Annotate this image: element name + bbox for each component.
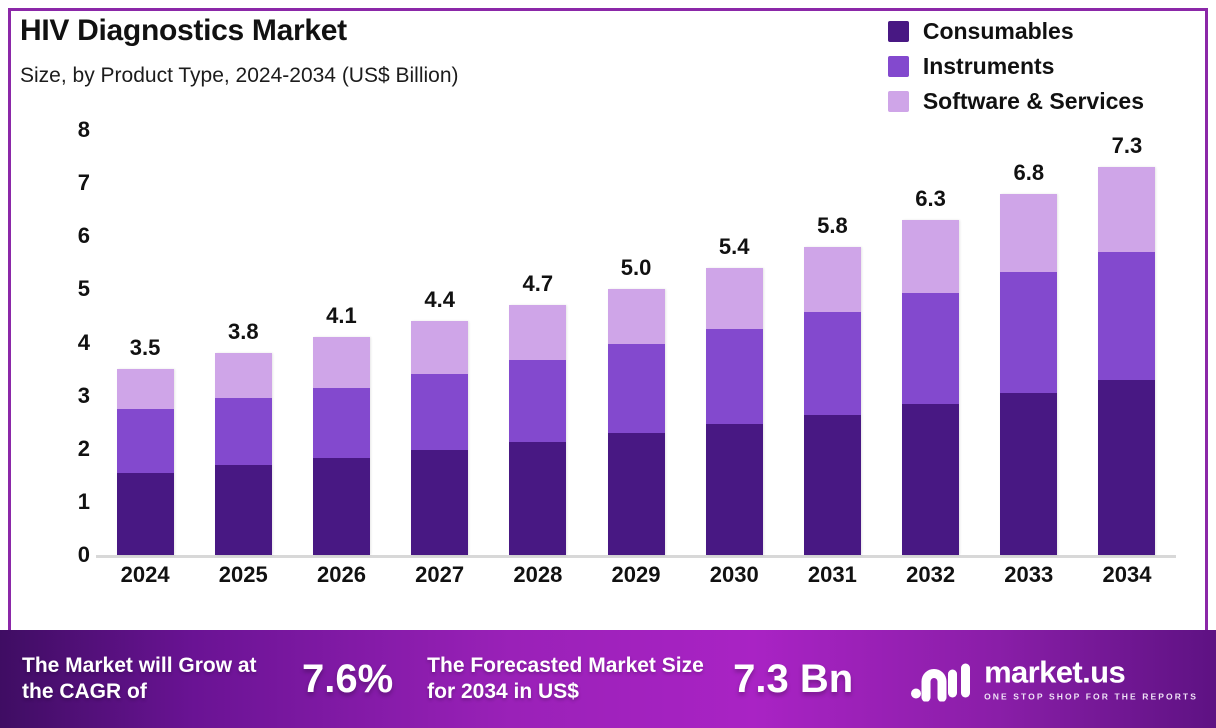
bar-segment[interactable] bbox=[804, 247, 861, 312]
stacked-bar[interactable] bbox=[1000, 194, 1057, 555]
stacked-bar[interactable] bbox=[706, 268, 763, 555]
x-axis-line bbox=[96, 555, 1176, 558]
bar-segment[interactable] bbox=[706, 424, 763, 555]
legend-swatch-icon bbox=[888, 21, 909, 42]
bar-segment[interactable] bbox=[608, 289, 665, 344]
bar-segment[interactable] bbox=[411, 321, 468, 374]
bar-segment[interactable] bbox=[1000, 272, 1057, 393]
forecast-value-block: 7.3 Bn bbox=[733, 657, 853, 702]
y-axis-tick-label: 8 bbox=[78, 117, 90, 143]
legend-item[interactable]: Instruments bbox=[888, 53, 1055, 80]
legend-label: Consumables bbox=[923, 18, 1074, 45]
bar-segment[interactable] bbox=[509, 305, 566, 360]
legend-item[interactable]: Software & Services bbox=[888, 88, 1144, 115]
x-axis-tick-label: 2033 bbox=[980, 562, 1078, 588]
bar-total-label: 4.7 bbox=[489, 271, 587, 297]
y-axis-tick-label: 4 bbox=[78, 330, 90, 356]
bar-total-label: 3.8 bbox=[194, 319, 292, 345]
bar-segment[interactable] bbox=[1000, 194, 1057, 273]
stacked-bar[interactable] bbox=[411, 321, 468, 555]
bar-segment[interactable] bbox=[215, 398, 272, 464]
bar-segment[interactable] bbox=[902, 404, 959, 555]
bar-total-label: 4.1 bbox=[292, 303, 390, 329]
bar-segment[interactable] bbox=[1098, 252, 1155, 380]
cagr-value-block: 7.6% bbox=[302, 657, 393, 702]
bar-series: 3.53.84.14.44.75.05.45.86.36.87.3 bbox=[96, 130, 1176, 555]
forecast-value: 7.3 Bn bbox=[733, 657, 853, 702]
x-axis-tick-label: 2025 bbox=[194, 562, 292, 588]
bar-total-label: 5.4 bbox=[685, 234, 783, 260]
header: HIV Diagnostics Market Size, by Product … bbox=[20, 14, 459, 88]
x-axis-tick-label: 2032 bbox=[882, 562, 980, 588]
stacked-bar[interactable] bbox=[902, 220, 959, 555]
bar-group[interactable]: 6.8 bbox=[980, 130, 1078, 555]
legend-label: Software & Services bbox=[923, 88, 1144, 115]
bar-segment[interactable] bbox=[117, 473, 174, 555]
bar-segment[interactable] bbox=[1098, 380, 1155, 555]
stacked-bar[interactable] bbox=[608, 289, 665, 555]
logo-tagline: ONE STOP SHOP FOR THE REPORTS bbox=[984, 692, 1198, 702]
logo-text: market.us ONE STOP SHOP FOR THE REPORTS bbox=[984, 657, 1198, 702]
legend-item[interactable]: Consumables bbox=[888, 18, 1074, 45]
stacked-bar[interactable] bbox=[804, 247, 861, 555]
bar-group[interactable]: 5.8 bbox=[783, 130, 881, 555]
legend-swatch-icon bbox=[888, 91, 909, 112]
bar-total-label: 5.8 bbox=[783, 213, 881, 239]
bar-segment[interactable] bbox=[313, 458, 370, 555]
bar-segment[interactable] bbox=[117, 369, 174, 409]
bar-segment[interactable] bbox=[411, 374, 468, 450]
bar-segment[interactable] bbox=[608, 344, 665, 433]
legend-label: Instruments bbox=[923, 53, 1055, 80]
bar-total-label: 6.8 bbox=[980, 160, 1078, 186]
bar-segment[interactable] bbox=[902, 293, 959, 404]
bar-segment[interactable] bbox=[313, 337, 370, 387]
chart-subtitle: Size, by Product Type, 2024-2034 (US$ Bi… bbox=[20, 64, 459, 88]
stacked-bar[interactable] bbox=[117, 369, 174, 555]
bar-segment[interactable] bbox=[509, 360, 566, 442]
bar-total-label: 7.3 bbox=[1078, 133, 1176, 159]
y-axis-tick-label: 0 bbox=[78, 542, 90, 568]
bar-group[interactable]: 3.8 bbox=[194, 130, 292, 555]
forecast-caption: The Forecasted Market Size for 2034 in U… bbox=[427, 653, 727, 704]
market-us-logo: market.us ONE STOP SHOP FOR THE REPORTS bbox=[910, 657, 1198, 702]
x-axis-labels: 2024202520262027202820292030203120322033… bbox=[96, 562, 1176, 588]
y-axis-tick-label: 1 bbox=[78, 489, 90, 515]
y-axis-tick-label: 6 bbox=[78, 223, 90, 249]
stacked-bar[interactable] bbox=[1098, 167, 1155, 555]
page-title: HIV Diagnostics Market bbox=[20, 14, 459, 48]
stacked-bar[interactable] bbox=[313, 337, 370, 555]
bar-total-label: 6.3 bbox=[882, 186, 980, 212]
bar-total-label: 3.5 bbox=[96, 335, 194, 361]
bar-total-label: 4.4 bbox=[391, 287, 489, 313]
bar-segment[interactable] bbox=[1000, 393, 1057, 555]
x-axis-tick-label: 2028 bbox=[489, 562, 587, 588]
bar-segment[interactable] bbox=[1098, 167, 1155, 252]
bar-segment[interactable] bbox=[706, 329, 763, 424]
bar-segment[interactable] bbox=[608, 433, 665, 555]
x-axis-tick-label: 2031 bbox=[783, 562, 881, 588]
bar-segment[interactable] bbox=[411, 450, 468, 555]
chart-legend: ConsumablesInstrumentsSoftware & Service… bbox=[888, 18, 1144, 115]
y-axis-tick-label: 2 bbox=[78, 436, 90, 462]
forecast-block: The Forecasted Market Size for 2034 in U… bbox=[427, 653, 727, 704]
bar-segment[interactable] bbox=[117, 409, 174, 473]
cagr-caption: The Market will Grow at the CAGR of bbox=[22, 653, 292, 704]
legend-swatch-icon bbox=[888, 56, 909, 77]
x-axis-tick-label: 2027 bbox=[391, 562, 489, 588]
y-axis-tick-label: 3 bbox=[78, 383, 90, 409]
x-axis-tick-label: 2034 bbox=[1078, 562, 1176, 588]
y-axis-tick-label: 5 bbox=[78, 276, 90, 302]
bar-group[interactable]: 6.3 bbox=[882, 130, 980, 555]
bar-segment[interactable] bbox=[509, 442, 566, 555]
plot-area: 012345678 3.53.84.14.44.75.05.45.86.36.8… bbox=[96, 130, 1176, 555]
bar-group[interactable]: 5.0 bbox=[587, 130, 685, 555]
bottom-banner: The Market will Grow at the CAGR of 7.6%… bbox=[0, 630, 1216, 728]
bar-segment[interactable] bbox=[902, 220, 959, 293]
y-axis: 012345678 bbox=[50, 130, 90, 555]
bar-group[interactable]: 4.7 bbox=[489, 130, 587, 555]
y-axis-tick-label: 7 bbox=[78, 170, 90, 196]
bar-group[interactable]: 7.3 bbox=[1078, 130, 1176, 555]
bar-segment[interactable] bbox=[706, 268, 763, 329]
x-axis-tick-label: 2030 bbox=[685, 562, 783, 588]
x-axis-tick-label: 2024 bbox=[96, 562, 194, 588]
bar-segment[interactable] bbox=[215, 353, 272, 398]
bar-segment[interactable] bbox=[804, 312, 861, 416]
market-us-bars-icon bbox=[910, 657, 972, 701]
bar-segment[interactable] bbox=[215, 465, 272, 555]
bar-segment[interactable] bbox=[804, 415, 861, 555]
bar-segment[interactable] bbox=[313, 388, 370, 458]
cagr-value: 7.6% bbox=[302, 657, 393, 702]
bar-group[interactable]: 5.4 bbox=[685, 130, 783, 555]
bar-total-label: 5.0 bbox=[587, 255, 685, 281]
stacked-bar[interactable] bbox=[509, 305, 566, 555]
x-axis-tick-label: 2026 bbox=[292, 562, 390, 588]
infographic-root: HIV Diagnostics Market Size, by Product … bbox=[0, 0, 1216, 728]
stacked-bar[interactable] bbox=[215, 353, 272, 555]
bar-group[interactable]: 4.4 bbox=[391, 130, 489, 555]
logo-name: market.us bbox=[984, 657, 1198, 688]
bar-group[interactable]: 3.5 bbox=[96, 130, 194, 555]
x-axis-tick-label: 2029 bbox=[587, 562, 685, 588]
cagr-block: The Market will Grow at the CAGR of bbox=[22, 653, 292, 704]
bar-group[interactable]: 4.1 bbox=[292, 130, 390, 555]
